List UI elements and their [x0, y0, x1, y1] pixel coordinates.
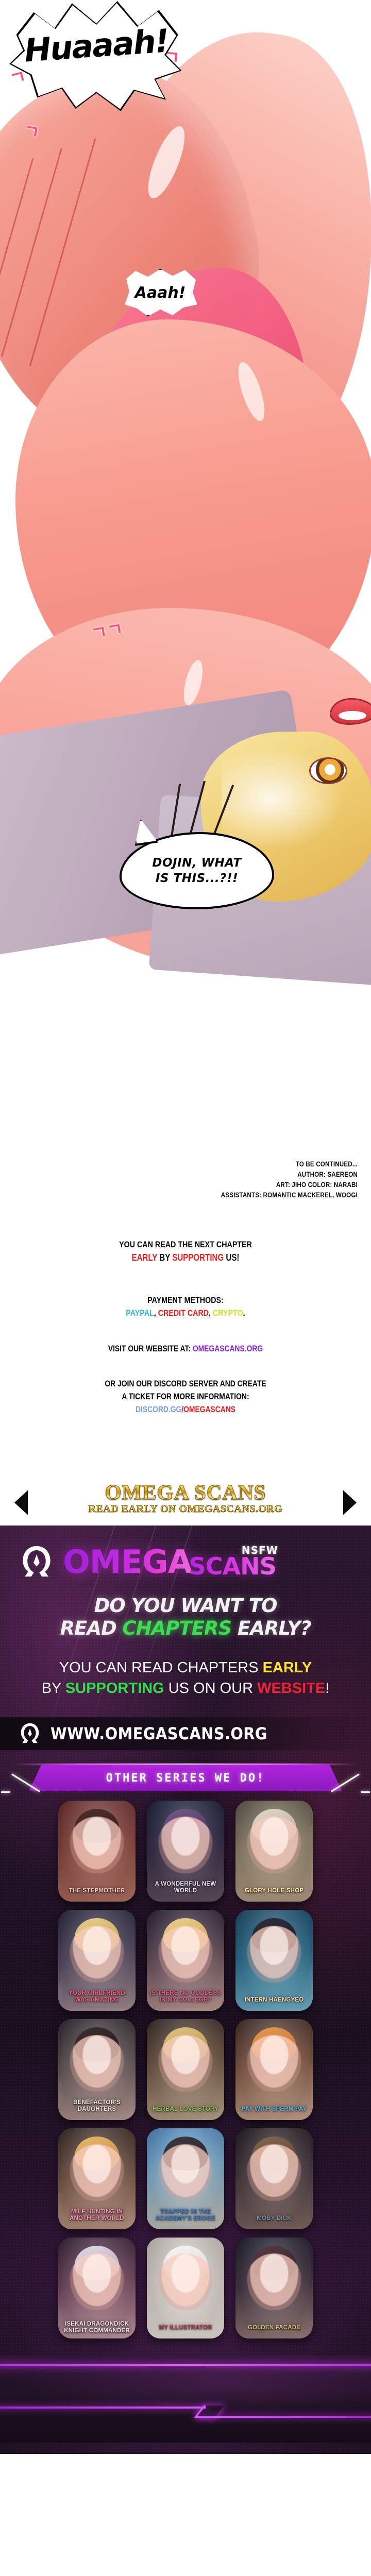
- series-title: PAY WITH SPERM PAY: [239, 2106, 310, 2113]
- promo-sub2-supporting: SUPPORTING: [65, 1680, 164, 1697]
- comic-panel: Huaaah! Aaah! ㄱㄱ ㄱ ㄱㄱ ㄱ ㄱㄱ DOJIN, WHAT I…: [0, 0, 371, 1139]
- support-early: EARLY: [132, 1252, 158, 1263]
- series-card[interactable]: MOBY DICK: [235, 2128, 313, 2229]
- gold-logo: OMEGA SCANS READ EARLY ON OMEGASCANS.ORG: [88, 1481, 282, 1515]
- omega-logo-icon: [18, 1721, 42, 1746]
- credit-assistants: ASSISTANTS: ROMANTIC MACKEREL, WOOGI: [62, 1190, 358, 1200]
- payment-paypal: PAYPAL: [126, 1308, 154, 1318]
- gold-logo-title: OMEGA SCANS: [88, 1481, 282, 1503]
- payment-period: .: [243, 1308, 245, 1318]
- series-art-figure: [70, 1817, 124, 1873]
- payment-credit-card: CREDIT CARD: [158, 1308, 209, 1318]
- payment-header: PAYMENT METHODS:: [30, 1294, 342, 1307]
- promo-subtext: YOU CAN READ CHAPTERS EARLY BY SUPPORTIN…: [0, 1657, 371, 1699]
- promo-wordmark-scans: SCANS: [189, 1554, 276, 1578]
- discord-host: DISCORD.GG: [136, 1405, 181, 1414]
- triangle-right-icon: [343, 1490, 357, 1515]
- series-card[interactable]: A WONDERFUL NEW WORLD: [147, 1801, 224, 1902]
- support-line-2: EARLY BY SUPPORTING US!: [30, 1251, 342, 1264]
- promo-wordmark-omega: OMEGA: [63, 1546, 192, 1578]
- promo-url-text: WWW.OMEGASCANS.ORG: [50, 1724, 267, 1743]
- series-card[interactable]: MILF HUNTING IN ANOTHER WORLD: [58, 2128, 136, 2229]
- sound-effect-huaaah: Huaaah!: [11, 3, 181, 111]
- series-title: HERBAL LOVE STORY: [150, 2106, 221, 2113]
- gold-logo-block: OMEGA SCANS READ EARLY ON OMEGASCANS.ORG: [0, 1470, 371, 1526]
- discord-line-2: A TICKET FOR MORE INFORMATION:: [30, 1391, 342, 1403]
- series-title: IS THERE NO GODDESS IN MY COLLEGE?: [150, 1990, 221, 2004]
- visit-website-block: VISIT OUR WEBSITE AT: OMEGASCANS.ORG: [0, 1320, 371, 1355]
- dialogue-text: DOJIN, WHAT IS THIS...?!!: [120, 832, 274, 909]
- series-card[interactable]: INTERN HAENGYEO: [235, 1910, 313, 2011]
- dialogue-line-1: DOJIN, WHAT: [152, 855, 241, 871]
- promo-url-bar[interactable]: WWW.OMEGASCANS.ORG: [0, 1717, 371, 1750]
- nsfw-badge: NSFW: [242, 1545, 278, 1555]
- series-art-figure: [70, 1926, 124, 1982]
- series-card[interactable]: TRAPPED IN THE ACADEMY'S EROGE: [147, 2128, 224, 2229]
- support-supporting: SUPPORTING: [172, 1252, 224, 1263]
- promo-q2-read: READ: [60, 1617, 123, 1639]
- sound-effect-aaah-text: Aaah!: [122, 268, 199, 317]
- sound-effect-aaah: Aaah!: [122, 268, 199, 317]
- series-art-figure: [70, 2035, 124, 2092]
- promo-sub2-by: BY: [42, 1680, 65, 1697]
- credits-block: TO BE CONTINUED... AUTHOR: SAEREON ART: …: [0, 1139, 371, 1200]
- promo-sub2-website: WEBSITE: [257, 1680, 325, 1697]
- payment-sep-1: ,: [154, 1308, 158, 1318]
- payment-sep-2: ,: [209, 1308, 213, 1318]
- series-art-figure: [159, 2253, 213, 2310]
- series-card[interactable]: IS THERE NO GODDESS IN MY COLLEGE?: [147, 1910, 224, 2011]
- series-card[interactable]: GLORY HOLE SHOP: [235, 1801, 313, 1902]
- series-card[interactable]: THE STEPMOTHER: [58, 1801, 136, 1902]
- promo-sub1-early: EARLY: [263, 1659, 312, 1676]
- visit-line: VISIT OUR WEBSITE AT: OMEGASCANS.ORG: [30, 1343, 342, 1355]
- support-us: US!: [224, 1252, 239, 1263]
- promo-header: OMEGA SCANS NSFW: [0, 1526, 371, 1581]
- discord-path: /OMEGASCANS: [181, 1405, 235, 1414]
- neon-line-right: [196, 2416, 371, 2418]
- series-card[interactable]: GOLDEN FACADE: [235, 2238, 313, 2338]
- payment-crypto: CRYPTO: [213, 1308, 243, 1318]
- series-art-figure: [247, 1926, 301, 1982]
- credit-art-color: ART: JIHO COLOR: NARABI: [62, 1180, 358, 1190]
- series-card[interactable]: HERBAL LOVE STORY: [147, 2019, 224, 2120]
- series-grid: THE STEPMOTHER A WONDERFUL NEW WORLD GLO…: [0, 1791, 371, 2354]
- discord-line-1: OR JOIN OUR DISCORD SERVER AND CREATE: [30, 1378, 342, 1391]
- series-art-figure: [247, 2144, 301, 2201]
- visit-url[interactable]: OMEGASCANS.ORG: [193, 1344, 263, 1353]
- promo-footer-neon: [0, 2355, 371, 2443]
- series-title: THE STEPMOTHER: [61, 1888, 132, 1894]
- series-card[interactable]: ISEKAI DRAGONDICK KNIGHT COMMANDER: [58, 2238, 136, 2338]
- series-art-figure: [247, 2035, 301, 2092]
- promo-question: DO YOU WANT TO READ CHAPTERS EARLY?: [0, 1595, 371, 1640]
- promo-wordmark: OMEGA SCANS NSFW: [63, 1546, 276, 1578]
- neon-line-left: [0, 2406, 206, 2409]
- promo-question-line-1: DO YOU WANT TO: [9, 1595, 362, 1617]
- promo-sub2-mid: US ON OUR: [164, 1680, 257, 1697]
- series-title: MOBY DICK: [239, 2215, 310, 2222]
- series-title: GLORY HOLE SHOP: [239, 1888, 310, 1894]
- webtoon-page: Huaaah! Aaah! ㄱㄱ ㄱ ㄱㄱ ㄱ ㄱㄱ DOJIN, WHAT I…: [0, 0, 371, 2454]
- omega-logo-icon: [18, 1543, 56, 1581]
- promo-sub2-bang: !: [325, 1680, 329, 1697]
- series-title: BENEFACTOR'S DAUGHTERS: [61, 2099, 132, 2113]
- series-card[interactable]: MY ILLUSTRATOR: [147, 2238, 224, 2338]
- series-art-figure: [247, 1817, 301, 1873]
- series-title: YOUR GIRLFRIEND WAS AMAZING: [61, 1990, 132, 2004]
- gold-logo-subtitle: READ EARLY ON OMEGASCANS.ORG: [88, 1503, 282, 1515]
- discord-invite[interactable]: DISCORD.GG/OMEGASCANS: [30, 1403, 342, 1416]
- payment-methods-list: PAYPAL, CREDIT CARD, CRYPTO.: [30, 1307, 342, 1320]
- comic-art-shape: [330, 698, 371, 725]
- series-card[interactable]: BENEFACTOR'S DAUGHTERS: [58, 2019, 136, 2120]
- series-art-figure: [70, 2144, 124, 2201]
- promo-q2-early: EARLY?: [231, 1617, 311, 1639]
- series-title: TRAPPED IN THE ACADEMY'S EROGE: [150, 2209, 221, 2222]
- other-series-label: OTHER SERIES WE DO!: [0, 1765, 371, 1791]
- series-art-figure: [159, 1817, 213, 1873]
- series-art-figure: [159, 1926, 213, 1982]
- promo-question-line-2: READ CHAPTERS EARLY?: [9, 1617, 362, 1640]
- series-art-figure: [159, 2144, 213, 2201]
- series-title: GOLDEN FACADE: [239, 2325, 310, 2331]
- series-card[interactable]: PAY WITH SPERM PAY: [235, 2019, 313, 2120]
- promo-sub-line-1: YOU CAN READ CHAPTERS EARLY: [11, 1657, 360, 1678]
- series-title: MILF HUNTING IN ANOTHER WORLD: [61, 2209, 132, 2222]
- speech-bubble-dialogue: DOJIN, WHAT IS THIS...?!!: [120, 832, 274, 909]
- promo-q2-chapters: CHAPTERS: [123, 1617, 232, 1639]
- credit-to-be-continued: TO BE CONTINUED...: [62, 1159, 358, 1170]
- credit-author: AUTHOR: SAEREON: [62, 1170, 358, 1180]
- promo-banner: OMEGA SCANS NSFW DO YOU WANT TO READ CHA…: [0, 1526, 371, 2454]
- payment-methods-block: PAYMENT METHODS: PAYPAL, CREDIT CARD, CR…: [0, 1264, 371, 1320]
- dialogue-line-2: IS THIS...?!!: [156, 871, 238, 886]
- visit-prefix: VISIT OUR WEBSITE AT:: [108, 1344, 193, 1353]
- neon-line-top: [0, 2364, 371, 2366]
- series-art-figure: [247, 2253, 301, 2310]
- series-card[interactable]: YOUR GIRLFRIEND WAS AMAZING: [58, 1910, 136, 2011]
- other-series-banner: OTHER SERIES WE DO!: [0, 1765, 371, 1791]
- promo-sub-line-2: BY SUPPORTING US ON OUR WEBSITE!: [11, 1678, 360, 1699]
- series-title: INTERN HAENGYEO: [239, 1997, 310, 2004]
- support-block: YOU CAN READ THE NEXT CHAPTER EARLY BY S…: [0, 1200, 371, 1264]
- support-by: BY: [157, 1252, 172, 1263]
- comic-art-shape: [309, 757, 347, 784]
- discord-block: OR JOIN OUR DISCORD SERVER AND CREATE A …: [0, 1355, 371, 1416]
- series-title: ISEKAI DRAGONDICK KNIGHT COMMANDER: [61, 2321, 132, 2334]
- support-line-1: YOU CAN READ THE NEXT CHAPTER: [30, 1239, 342, 1251]
- series-art-figure: [159, 2035, 213, 2092]
- promo-sub1-a: YOU CAN READ CHAPTERS: [59, 1659, 263, 1676]
- series-title: A WONDERFUL NEW WORLD: [150, 1881, 221, 1894]
- series-art-figure: [70, 2253, 124, 2310]
- series-title: MY ILLUSTRATOR: [150, 2325, 221, 2331]
- triangle-left-icon: [14, 1490, 28, 1515]
